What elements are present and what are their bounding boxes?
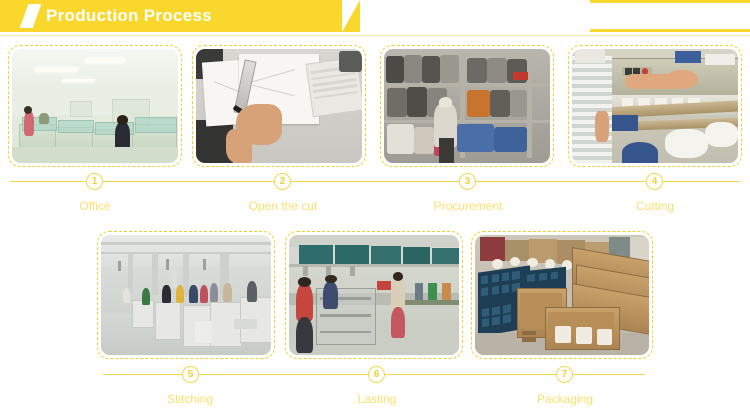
step-label-3: Procurement: [388, 199, 548, 213]
header-wedge: [590, 0, 750, 32]
cutting-machine-photo: [572, 49, 738, 163]
office-photo: [12, 49, 178, 163]
lasting-line-photo: [289, 235, 459, 355]
step-label-2: Open the cut: [203, 199, 363, 213]
pattern-cutting-photo: [196, 49, 362, 163]
step-photo-5[interactable]: [97, 231, 275, 359]
step-node-6[interactable]: 6: [368, 366, 385, 383]
step-photo-4[interactable]: [568, 45, 742, 167]
page-title: Production Process: [46, 0, 212, 32]
header-divider: [0, 35, 750, 36]
step-node-1[interactable]: 1: [86, 173, 103, 190]
packaging-boxes-photo: [475, 235, 649, 355]
step-label-1: Office: [15, 199, 175, 213]
fabric-warehouse-photo: [384, 49, 550, 163]
step-label-4: Cutting: [575, 199, 735, 213]
sewing-floor-photo: [101, 235, 271, 355]
page-header: Production Process: [0, 0, 750, 32]
step-photo-1[interactable]: [8, 45, 182, 167]
step-node-4[interactable]: 4: [646, 173, 663, 190]
connector-line-top: [10, 181, 740, 182]
step-photo-3[interactable]: [380, 45, 554, 167]
step-label-5: Stitching: [110, 392, 270, 406]
step-photo-7[interactable]: [471, 231, 653, 359]
step-node-5[interactable]: 5: [182, 366, 199, 383]
header-wedge-inner: [590, 3, 750, 29]
step-label-7: Packaging: [485, 392, 645, 406]
step-photo-2[interactable]: [192, 45, 366, 167]
step-node-3[interactable]: 3: [459, 173, 476, 190]
step-photo-6[interactable]: [285, 231, 463, 359]
step-node-7[interactable]: 7: [556, 366, 573, 383]
step-node-2[interactable]: 2: [274, 173, 291, 190]
step-label-6: Lasting: [297, 392, 457, 406]
